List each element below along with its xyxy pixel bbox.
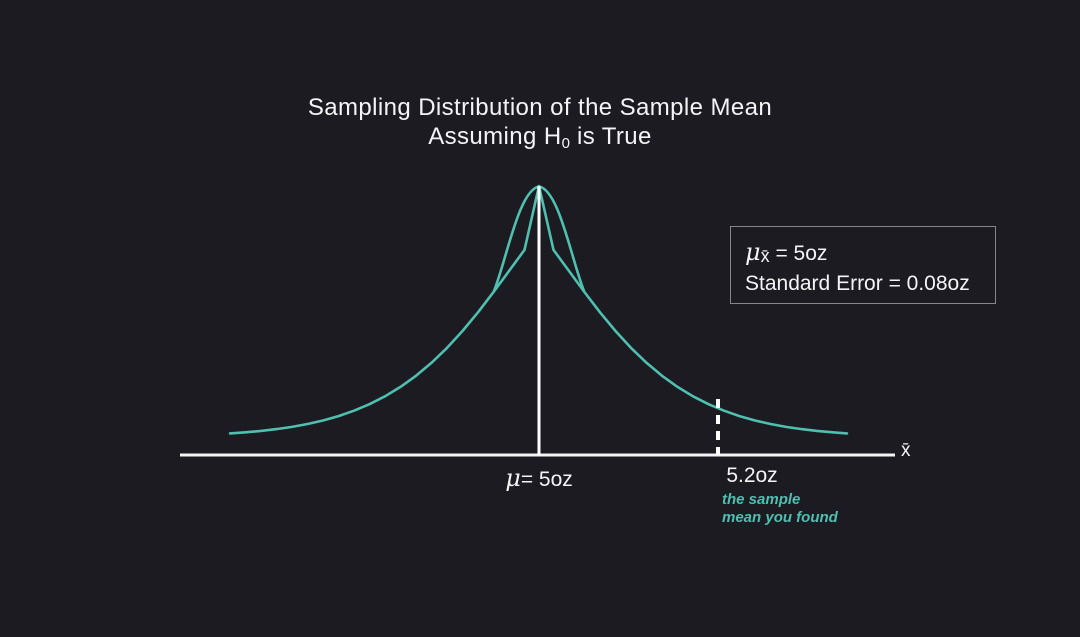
x-axis-label: x̄ [901,440,911,462]
chart-title-line1: Sampling Distribution of the Sample Mean [308,94,772,121]
mean-of-sample-means-line: μx̄ = 5oz [745,239,970,270]
mu-symbol-axis: μ [505,464,521,492]
chart-title-line2-text: Assuming H [428,123,561,150]
sample-mean-annotation: the sample mean you found [722,491,838,527]
xbar-subscript: x̄ [761,246,770,266]
sample-mean-annotation-line1: the sample [722,491,838,509]
mu-tick-value: = 5oz [521,468,573,491]
chart-title: Sampling Distribution of the Sample Mean… [0,93,1080,158]
chart-stage: Sampling Distribution of the Sample Mean… [0,0,1080,637]
statistics-info-lines: μx̄ = 5oz Standard Error = 0.08oz [745,239,970,297]
sample-mean-tick-label: 5.2oz [677,464,827,488]
standard-error-line: Standard Error = 0.08oz [745,270,970,297]
statistics-info-box: μx̄ = 5oz Standard Error = 0.08oz [730,226,996,304]
mu-tick-label: μ= 5oz [448,464,630,492]
mu-symbol-box: μ [745,238,761,266]
chart-title-line2: Assuming H0 is True [0,122,1080,158]
chart-title-line2-tail: is True [570,123,652,150]
sample-mean-annotation-line2: mean you found [722,509,838,527]
null-hypothesis-subscript: 0 [562,135,570,152]
mu-value: = 5oz [770,242,828,265]
